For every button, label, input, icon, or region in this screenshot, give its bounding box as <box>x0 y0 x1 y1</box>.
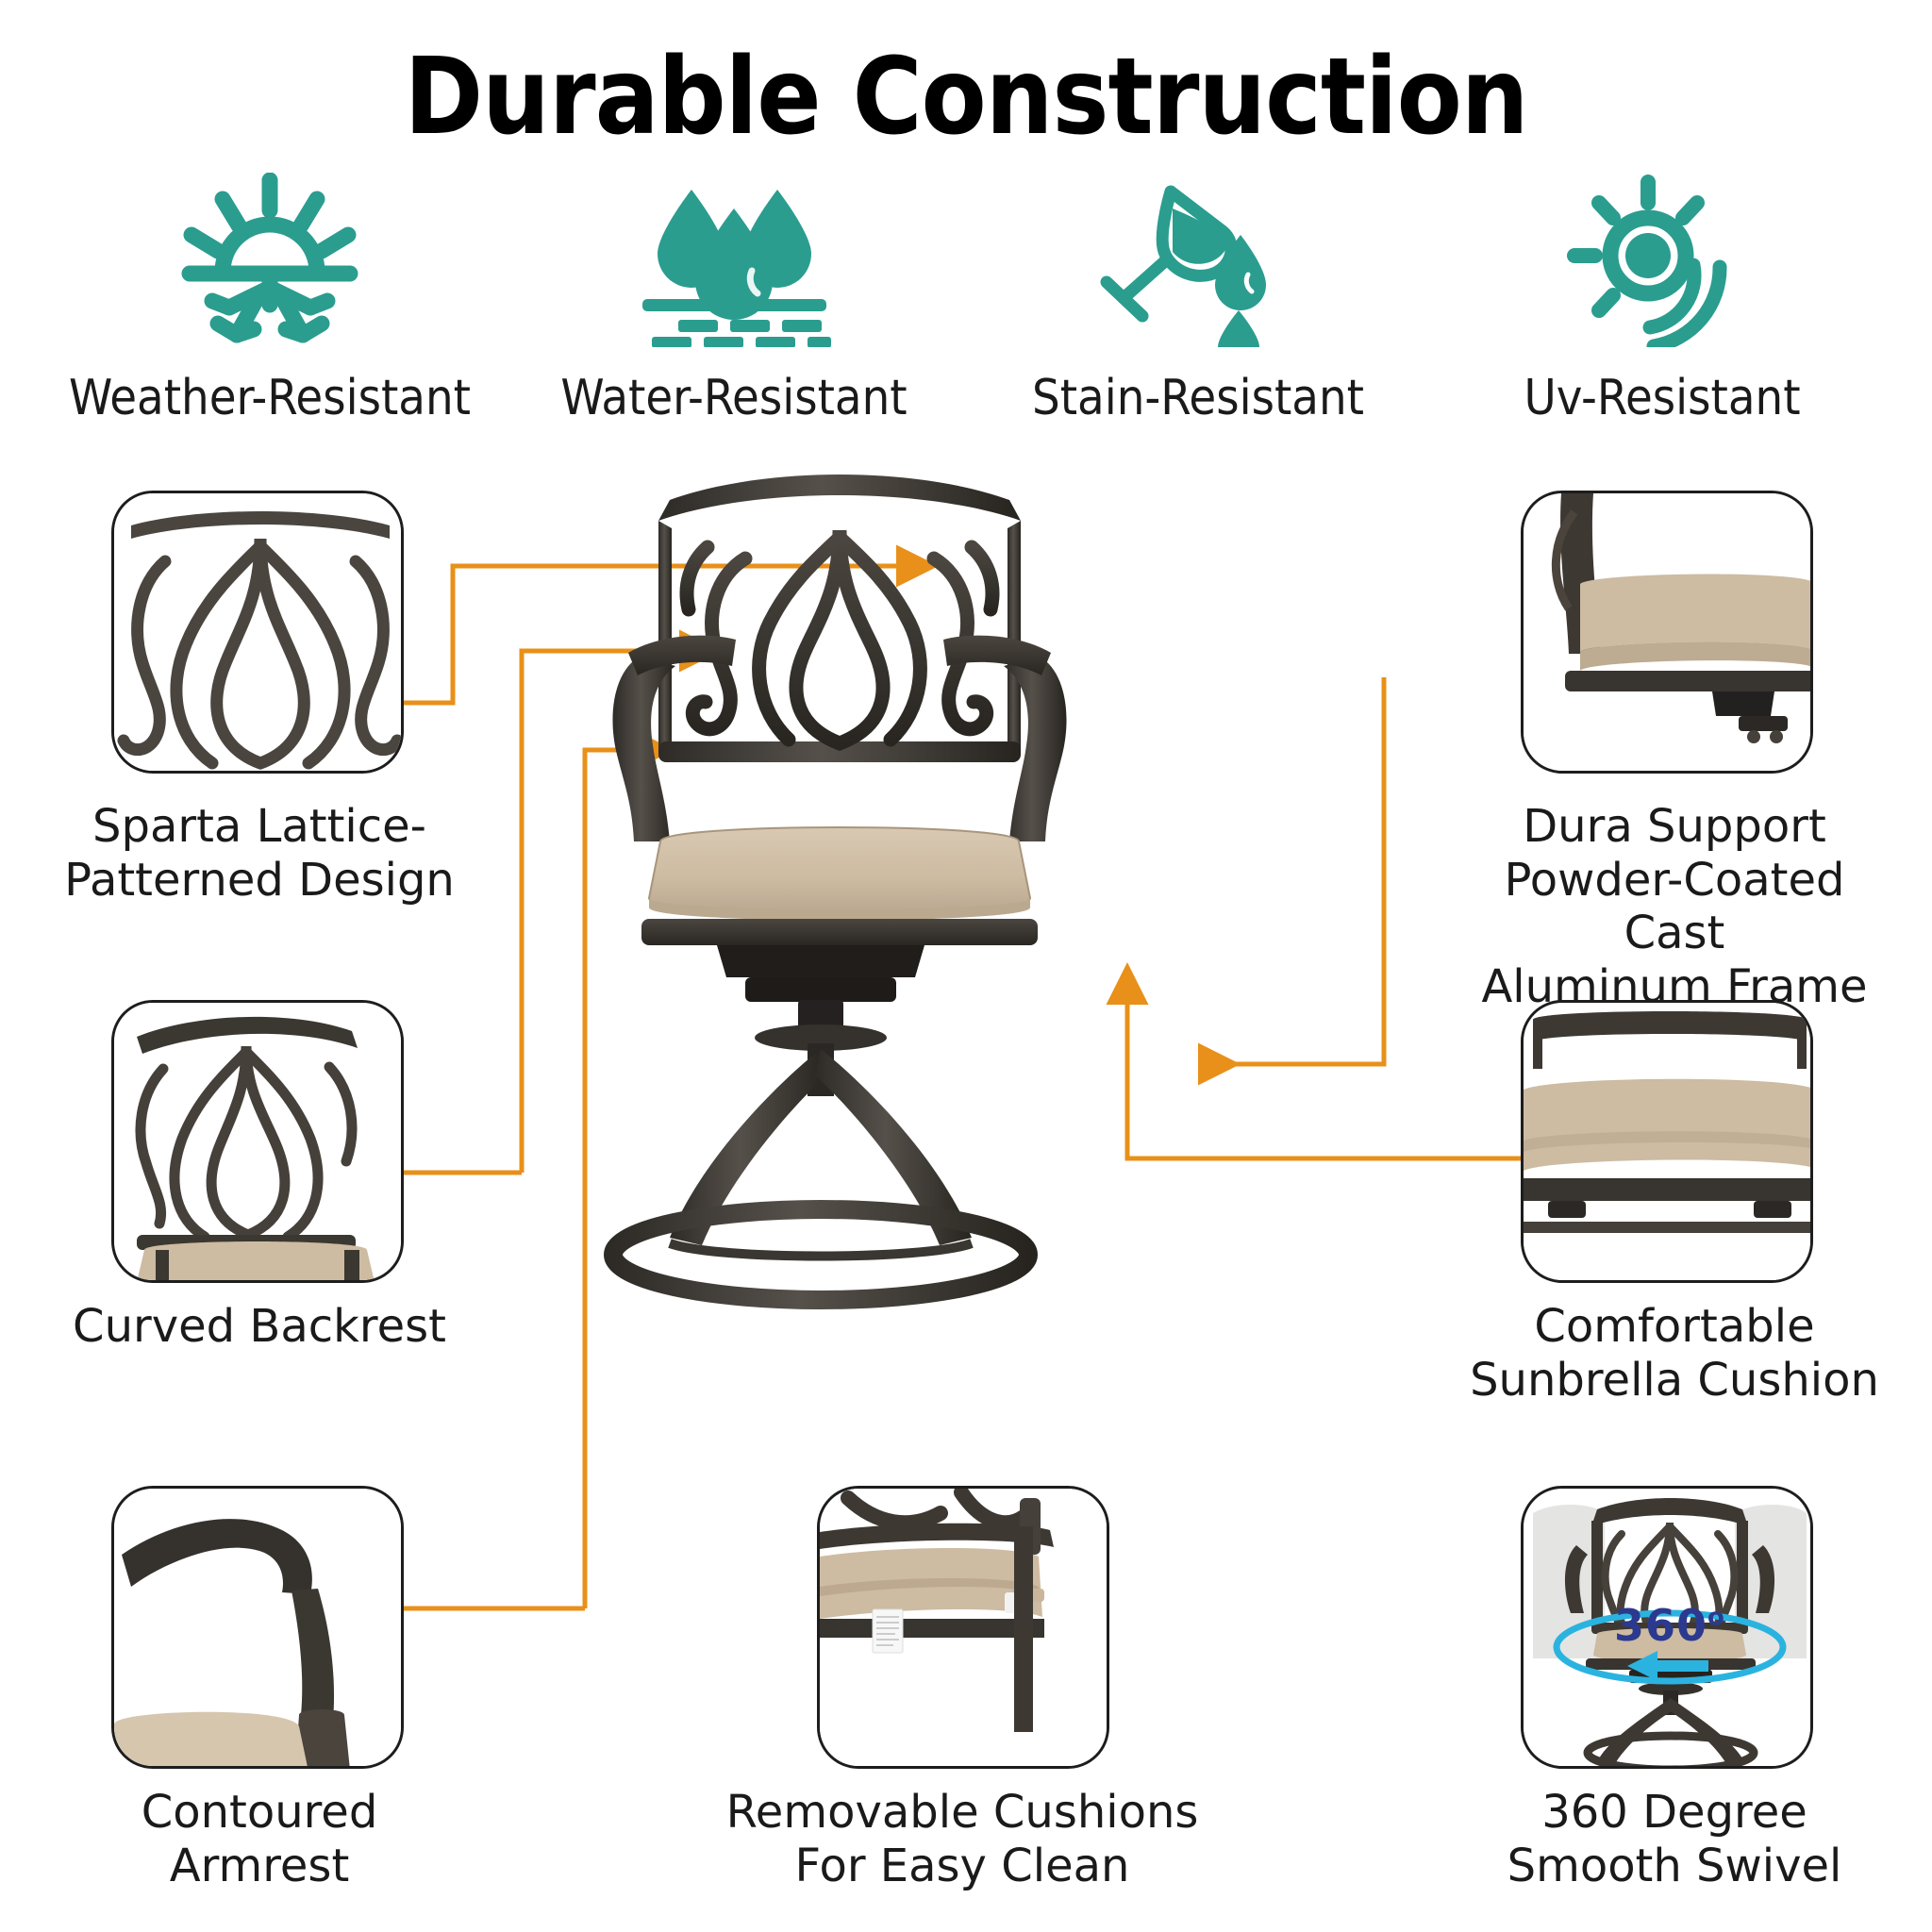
caption-removable-cushions: Removable Cushions For Easy Clean <box>679 1786 1245 1892</box>
caption-line: Patterned Design <box>38 854 481 908</box>
page-title: Durable Construction <box>0 36 1932 158</box>
caption-line: For Easy Clean <box>679 1840 1245 1893</box>
feature-uv-resistant: Uv-Resistant <box>1464 168 1860 426</box>
caption-line: 360 Degree <box>1453 1786 1896 1840</box>
feature-label: Uv-Resistant <box>1524 370 1800 426</box>
caption-line: Armrest <box>38 1840 481 1893</box>
water-droplets-icon <box>633 168 836 347</box>
spilling-wine-glass-icon <box>1097 168 1300 347</box>
badge-number: 360 <box>1614 1600 1707 1651</box>
caption-line: Contoured <box>38 1786 481 1840</box>
caption-line: Dura Support <box>1453 800 1896 854</box>
feature-row: Weather-Resistant <box>0 168 1932 426</box>
badge-degree-symbol: o <box>1707 1604 1725 1632</box>
sun-snowflake-icon <box>171 168 369 347</box>
infographic-stage: Durable Construction <box>0 0 1932 1932</box>
curved-backrest-image <box>114 1003 401 1280</box>
feature-weather-resistant: Weather-Resistant <box>72 168 468 426</box>
curved-backrest-thumbnail[interactable] <box>111 1000 404 1283</box>
sunbrella-cushion-thumbnail[interactable] <box>1521 1000 1813 1283</box>
caption-line: Sparta Lattice- <box>38 800 481 854</box>
caption-line: Removable Cushions <box>679 1786 1245 1840</box>
lattice-backrest-image <box>114 493 401 771</box>
caption-line: Comfortable <box>1453 1300 1896 1354</box>
feature-stain-resistant: Stain-Resistant <box>1000 168 1396 426</box>
contoured-armrest-image <box>114 1489 401 1766</box>
cast-aluminum-frame-image <box>1524 493 1810 771</box>
contoured-armrest-thumbnail[interactable] <box>111 1486 404 1769</box>
feature-water-resistant: Water-Resistant <box>536 168 932 426</box>
caption-dura-support-frame: Dura Support Powder-Coated Cast Aluminum… <box>1453 800 1896 1014</box>
lattice-backrest-thumbnail[interactable] <box>111 491 404 774</box>
cast-aluminum-frame-thumbnail[interactable] <box>1521 491 1813 774</box>
caption-line: Sunbrella Cushion <box>1453 1354 1896 1407</box>
caption-sunbrella-cushion: Comfortable Sunbrella Cushion <box>1453 1300 1896 1407</box>
caption-curved-backrest: Curved Backrest <box>38 1300 481 1354</box>
feature-label: Water-Resistant <box>560 370 907 426</box>
sunbrella-cushion-image <box>1524 1003 1810 1280</box>
removable-cushion-thumbnail[interactable] <box>817 1486 1109 1769</box>
caption-line: Curved Backrest <box>38 1300 481 1354</box>
badge-360-degree: 360o <box>1614 1600 1725 1651</box>
sun-rays-icon <box>1561 168 1764 347</box>
swivel-chair-thumbnail[interactable]: 360o <box>1521 1486 1813 1769</box>
caption-360-swivel: 360 Degree Smooth Swivel <box>1453 1786 1896 1892</box>
caption-sparta-lattice: Sparta Lattice- Patterned Design <box>38 800 481 907</box>
caption-contoured-armrest: Contoured Armrest <box>38 1786 481 1892</box>
feature-label: Stain-Resistant <box>1032 370 1364 426</box>
feature-label: Weather-Resistant <box>69 370 471 426</box>
caption-line: Smooth Swivel <box>1453 1840 1896 1893</box>
removable-cushion-image <box>820 1489 1107 1766</box>
swivel-dining-chair-product-photo <box>604 472 1321 1415</box>
caption-line: Powder-Coated Cast <box>1453 854 1896 960</box>
